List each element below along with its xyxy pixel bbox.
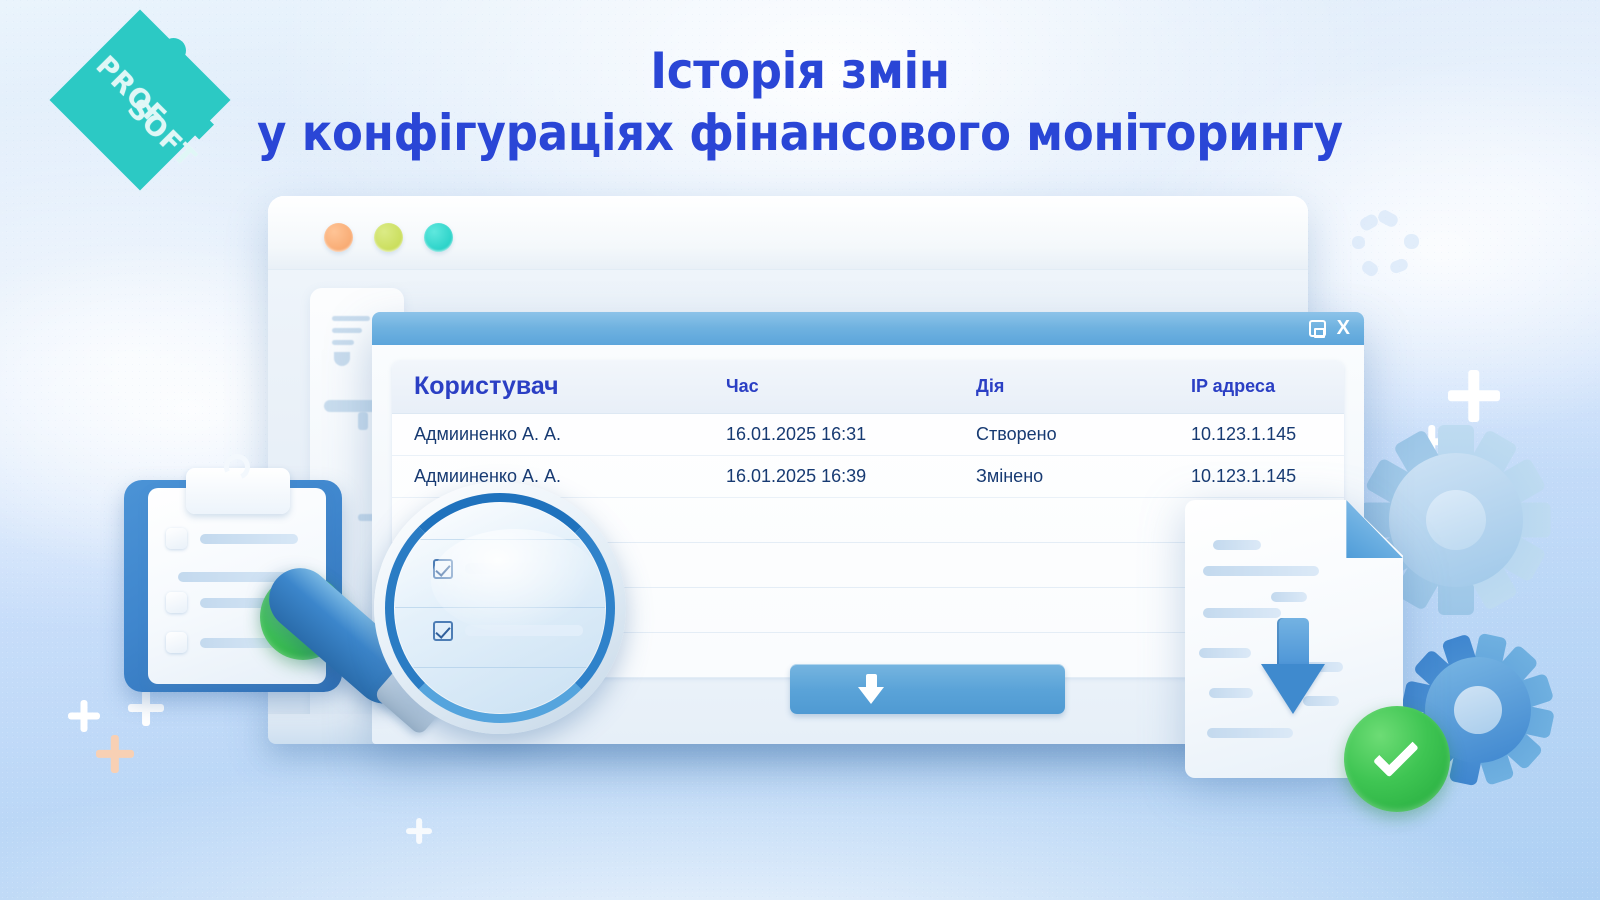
magnifier-lens (395, 503, 605, 713)
document-download-arrow-icon (1261, 618, 1325, 714)
page-title-line-2: у конфігураціях фінансового моніторингу (0, 104, 1600, 162)
clipboard-checkbox (166, 632, 187, 653)
magnified-checkbox-icon (433, 621, 453, 641)
document-line (1207, 728, 1293, 738)
cell-empty (972, 588, 1187, 633)
document-line (1203, 566, 1319, 576)
dotted-ring-decoration (1352, 212, 1422, 282)
cell-empty (972, 498, 1187, 543)
column-header-ip[interactable]: IP адреса (1187, 361, 1344, 414)
document-line (1271, 592, 1307, 602)
cell-action: Змінено (972, 456, 1187, 498)
poster-canvas: PROF SOFT Історія змін у конфігураціях ф… (0, 0, 1600, 900)
clipboard-checkbox (166, 592, 187, 613)
table-header: Користувач Час Дія IP адреса (392, 361, 1344, 414)
window-maximize-dot[interactable] (424, 223, 453, 252)
table-row[interactable]: Адмииненко А. А. 16.01.2025 16:31 Створе… (392, 414, 1344, 456)
cell-empty (722, 543, 972, 588)
restore-window-button[interactable] (1309, 320, 1326, 337)
column-header-time[interactable]: Час (722, 361, 972, 414)
page-title: Історія змін у конфігураціях фінансового… (0, 42, 1600, 162)
close-dialog-button[interactable]: X (1337, 320, 1350, 337)
check-mark-icon (1373, 731, 1419, 777)
document-line (1209, 688, 1253, 698)
cell-action: Створено (972, 414, 1187, 456)
restore-icon (1309, 320, 1326, 337)
plus-large-right-icon (1448, 370, 1500, 422)
table-header-row: Користувач Час Дія IP адреса (392, 361, 1344, 414)
document-line (1203, 608, 1281, 618)
window-minimize-dot[interactable] (374, 223, 403, 252)
cell-time: 16.01.2025 16:39 (722, 456, 972, 498)
cell-empty (722, 498, 972, 543)
magnifier-rim (374, 482, 626, 734)
cell-user: Адмииненко А. А. (392, 414, 722, 456)
dialog-titlebar: X (372, 312, 1364, 345)
column-header-user[interactable]: Користувач (392, 361, 722, 414)
column-header-action[interactable]: Дія (972, 361, 1187, 414)
document-line (1213, 540, 1261, 550)
cell-ip: 10.123.1.145 (1187, 414, 1344, 456)
download-button[interactable] (790, 664, 1065, 714)
window-close-dot[interactable] (324, 223, 353, 252)
browser-titlebar (268, 196, 1308, 270)
magnifier-icon (232, 476, 632, 816)
clipboard-checkbox (166, 528, 187, 549)
check-badge-document (1344, 706, 1450, 812)
page-title-line-1: Історія змін (0, 42, 1600, 100)
magnifier-glass-gloss (431, 529, 599, 633)
cell-empty (972, 543, 1187, 588)
download-arrow-icon (858, 674, 884, 704)
cell-time: 16.01.2025 16:31 (722, 414, 972, 456)
document-line (1199, 648, 1251, 658)
cell-ip: 10.123.1.145 (1187, 456, 1344, 498)
cell-empty (722, 588, 972, 633)
